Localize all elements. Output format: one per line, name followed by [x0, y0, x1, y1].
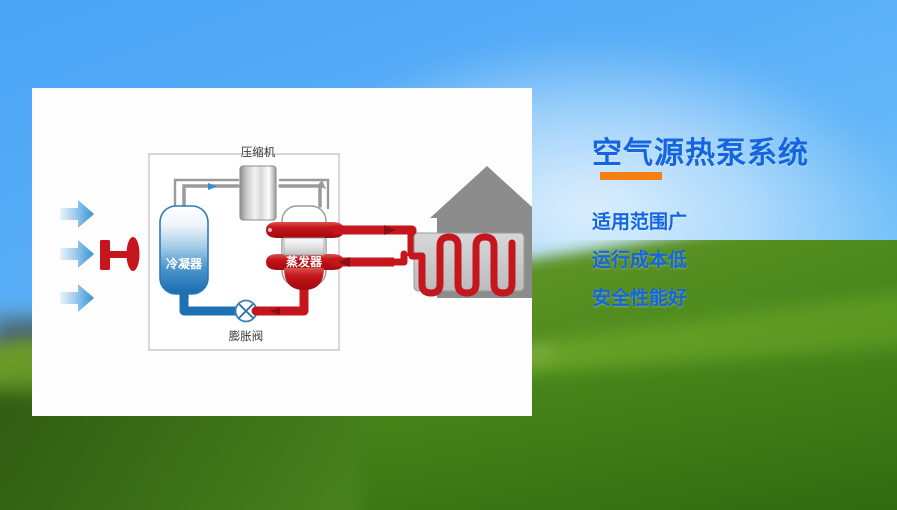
slide-root: 压缩机 冷凝器 膨胀阀: [0, 0, 897, 510]
list-item: 安全性能好: [592, 280, 852, 318]
list-item: 运行成本低: [592, 242, 852, 280]
evaporator-label: 蒸发器: [286, 254, 323, 269]
condenser-label: 冷凝器: [166, 256, 203, 271]
compressor-label: 压缩机: [241, 145, 276, 159]
air-arrow-middle: [60, 240, 94, 268]
air-arrow-bottom: [60, 284, 94, 312]
air-arrow-top: [60, 200, 94, 228]
orange-accent-bar: [600, 172, 662, 180]
page-title: 空气源热泵系统: [592, 128, 809, 172]
house-supply-pipes: [332, 230, 412, 262]
feature-list: 适用范围广 运行成本低 安全性能好: [592, 204, 852, 318]
compressor-unit: [240, 166, 276, 220]
list-item: 适用范围广: [592, 204, 852, 242]
diagram-card: 压缩机 冷凝器 膨胀阀: [32, 88, 532, 416]
heat-pump-diagram: 压缩机 冷凝器 膨胀阀: [32, 88, 532, 416]
expansion-valve-label: 膨胀阀: [229, 329, 264, 343]
condenser-unit: [160, 206, 208, 294]
fan-icon: [100, 237, 140, 271]
